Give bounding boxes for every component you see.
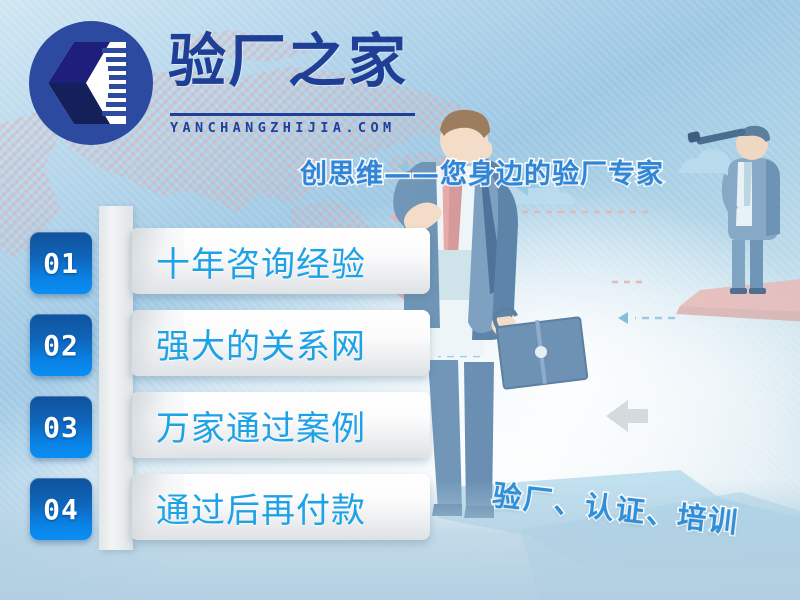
feature-label: 通过后再付款	[156, 474, 424, 540]
poster-canvas: 验厂之家 YANCHANGZHIJIA.COM 创思维——您身边的验厂专家 01…	[0, 0, 800, 600]
feature-panel[interactable]: 万家通过案例	[130, 392, 430, 458]
feature-label: 强大的关系网	[156, 310, 424, 376]
feature-panel[interactable]: 强大的关系网	[130, 310, 430, 376]
list-item[interactable]: 02 强大的关系网	[0, 310, 440, 380]
list-item[interactable]: 03 万家通过案例	[0, 392, 440, 462]
feature-number-badge: 02	[30, 314, 92, 376]
feature-list: 01 十年咨询经验 02 强大的关系网 03 万家通过案例 04 通过后再付款	[0, 0, 460, 600]
feature-panel[interactable]: 通过后再付款	[130, 474, 430, 540]
dashed-arrow-head	[618, 312, 628, 324]
list-item[interactable]: 04 通过后再付款	[0, 474, 440, 544]
list-item[interactable]: 01 十年咨询经验	[0, 228, 440, 298]
feature-label: 万家通过案例	[156, 392, 424, 458]
arrow-left-gray-icon	[606, 400, 648, 432]
feature-number-badge: 03	[30, 396, 92, 458]
feature-number-badge: 04	[30, 478, 92, 540]
feature-panel[interactable]: 十年咨询经验	[130, 228, 430, 294]
businessman-with-telescope-figure	[687, 126, 780, 294]
feature-number-badge: 01	[30, 232, 92, 294]
feature-label: 十年咨询经验	[156, 228, 424, 294]
